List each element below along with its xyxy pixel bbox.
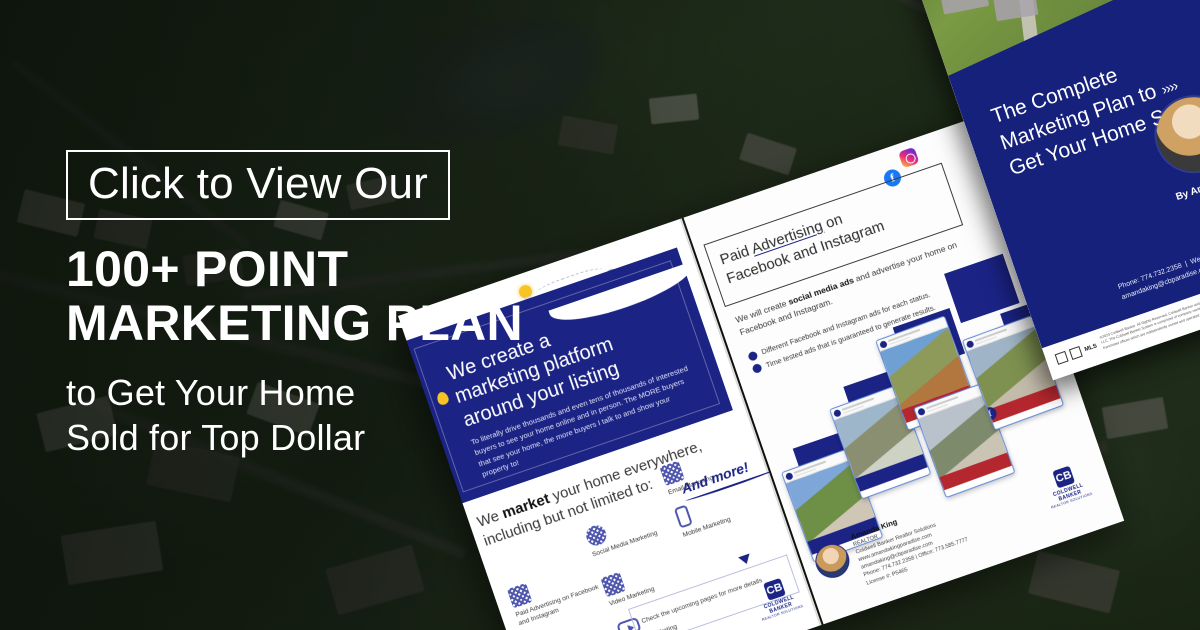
- realtor-icon: [1069, 346, 1083, 360]
- equal-housing-icon: [1055, 351, 1069, 365]
- hero-copy: Click to View Our 100+ POINT MARKETING P…: [66, 150, 586, 461]
- chevrons-icon: ››››: [1159, 76, 1181, 100]
- cta-kicker-box[interactable]: Click to View Our: [66, 150, 450, 220]
- qr-icon: [507, 583, 532, 608]
- cta-kicker-text: Click to View Our: [88, 162, 428, 206]
- mls-badge: MLS: [1084, 343, 1098, 353]
- hero-banner[interactable]: We create a marketing platform around yo…: [0, 0, 1200, 630]
- coldwell-banker-logo: CB COLDWELL BANKER REALTOR SOLUTIONS: [1039, 461, 1094, 510]
- agent-avatar: [811, 539, 854, 582]
- instagram-icon: [898, 147, 920, 169]
- page-title: 100+ POINT MARKETING PLAN: [66, 242, 586, 350]
- compliance-badges: MLS: [1055, 341, 1099, 365]
- social-icon: [584, 523, 609, 548]
- page-subtitle: to Get Your Home Sold for Top Dollar: [66, 370, 586, 461]
